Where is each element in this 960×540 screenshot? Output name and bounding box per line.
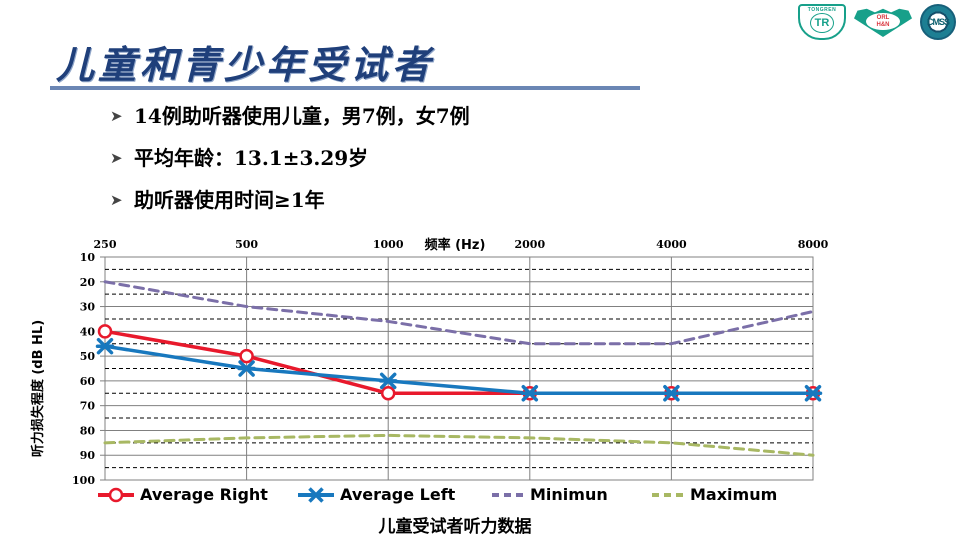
chart-canvas: 2505001000200040008000 10203040506070809… [0, 222, 960, 540]
list-item: ➤ 14例助听器使用儿童，男7例，女7例 [110, 104, 750, 128]
bullet-text: 平均年龄：13.1±3.29岁 [134, 146, 368, 170]
tongren-monogram-icon: TR [810, 13, 834, 33]
title-divider [50, 86, 640, 90]
page-title: 儿童和青少年受试者 [56, 34, 434, 89]
audiogram-chart: 2505001000200040008000 10203040506070809… [0, 222, 960, 540]
bullet-list: ➤ 14例助听器使用儿童，男7例，女7例 ➤ 平均年龄：13.1±3.29岁 ➤… [110, 104, 750, 230]
tongren-logo: TONGREN TR [798, 4, 846, 40]
logo-bar: TONGREN TR ORL H&N CMSS [798, 2, 956, 42]
institute-seal-logo: CMSS [920, 4, 956, 40]
svg-text:20: 20 [80, 276, 96, 289]
legend-label: Average Right [140, 485, 268, 504]
svg-text:2000: 2000 [514, 238, 545, 251]
svg-text:80: 80 [80, 424, 96, 437]
svg-text:100: 100 [72, 474, 95, 487]
legend-label: Average Left [340, 485, 456, 504]
orl-line1: ORL [877, 15, 890, 22]
svg-text:90: 90 [80, 449, 96, 462]
svg-text:10: 10 [80, 251, 96, 264]
list-item: ➤ 助听器使用时间≥1年 [110, 188, 750, 212]
svg-text:40: 40 [80, 325, 96, 338]
bullet-text: 14例助听器使用儿童，男7例，女7例 [134, 104, 470, 128]
x-axis-label: 频率 (Hz) [425, 237, 486, 253]
list-item: ➤ 平均年龄：13.1±3.29岁 [110, 146, 750, 170]
svg-text:50: 50 [80, 350, 96, 363]
svg-text:1000: 1000 [373, 238, 404, 251]
svg-text:70: 70 [80, 400, 96, 413]
svg-text:60: 60 [80, 375, 96, 388]
svg-text:500: 500 [235, 238, 258, 251]
orl-hn-logo: ORL H&N [854, 5, 912, 39]
orl-hn-wordmark: ORL H&N [866, 13, 900, 30]
svg-text:250: 250 [94, 238, 117, 251]
y-axis-label: 听力损失程度 (dB HL) [30, 320, 46, 457]
chart-legend: Average RightAverage LeftMinimunMaximum [98, 485, 777, 504]
chevron-right-icon: ➤ [110, 146, 134, 170]
seal-glyph: CMSS [927, 17, 949, 27]
chart-title: 儿童受试者听力数据 [378, 516, 532, 537]
svg-text:8000: 8000 [798, 238, 829, 251]
legend-label: Maximum [690, 485, 777, 504]
y-axis-ticks: 102030405060708090100 [72, 251, 105, 487]
svg-text:4000: 4000 [656, 238, 687, 251]
orl-line2: H&N [877, 22, 890, 29]
legend-label: Minimun [530, 485, 608, 504]
chevron-right-icon: ➤ [110, 188, 134, 212]
svg-text:30: 30 [80, 301, 96, 314]
chevron-right-icon: ➤ [110, 104, 134, 128]
bullet-text: 助听器使用时间≥1年 [134, 188, 325, 212]
